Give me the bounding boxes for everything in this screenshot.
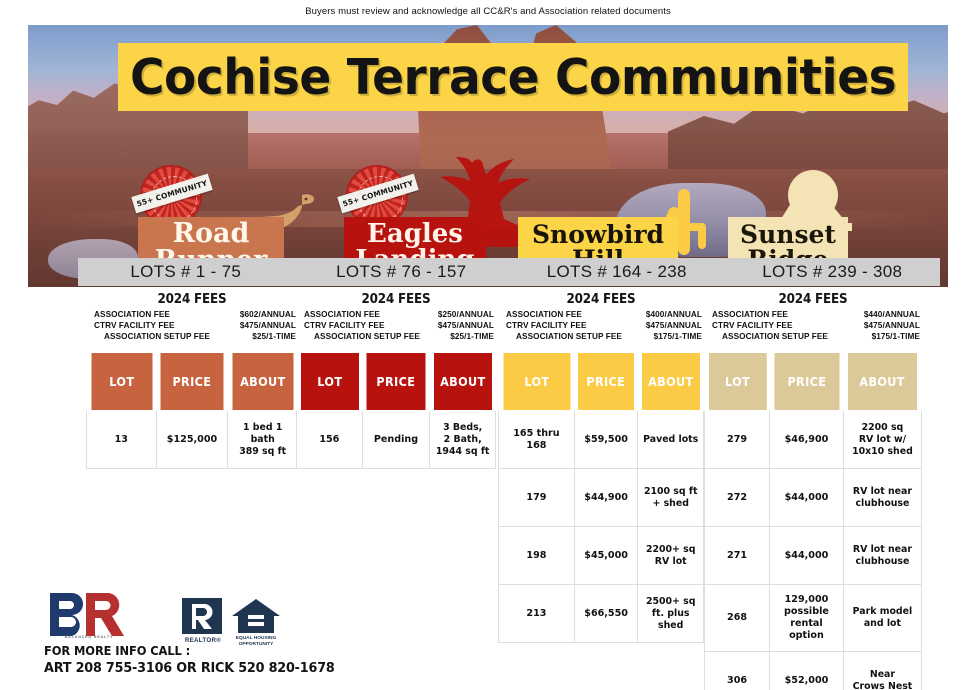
cell-about: 3 Beds,2 Bath,1944 sq ft [430, 411, 496, 469]
cell-price: $125,000 [156, 411, 228, 469]
cell-about: Paved lots [638, 411, 704, 469]
cell-price: $45,000 [574, 527, 638, 585]
fee-value: $25/1-TIME [252, 331, 298, 342]
fee-row: ASSOCIATION SETUP FEE $175/1-TIME [498, 331, 704, 342]
fee-label: ASSOCIATION FEE [86, 309, 170, 320]
equal-housing-label: EQUAL HOUSINGOPPORTUNITY [225, 636, 287, 648]
fee-row: CTRV FACILITY FEE $475/ANNUAL [498, 320, 704, 331]
cell-lot: 213 [499, 585, 575, 643]
cell-about: 2500+ sqft. plusshed [638, 585, 704, 643]
cell-lot: 271 [705, 527, 770, 585]
cell-about: 2200 sqRV lot w/10x10 shed [843, 411, 921, 469]
fee-row: CTRV FACILITY FEE $475/ANNUAL [704, 320, 922, 331]
fee-row: CTRV FACILITY FEE $475/ANNUAL [296, 320, 496, 331]
table-header-row: LOT PRICE ABOUT [87, 353, 298, 411]
fee-row: ASSOCIATION SETUP FEE $25/1-TIME [86, 331, 298, 342]
fee-label: ASSOCIATION FEE [498, 309, 582, 320]
table-row[interactable]: 13 $125,000 1 bed 1bath389 sq ft [87, 411, 298, 469]
realtor-label: REALTOR® [176, 637, 230, 644]
cell-lot: 268 [705, 585, 770, 652]
fee-label: ASSOCIATION FEE [296, 309, 380, 320]
table-row[interactable]: 271 $44,000 RV lot nearclubhouse [705, 527, 922, 585]
fee-row: ASSOCIATION SETUP FEE $25/1-TIME [296, 331, 496, 342]
fee-row: ASSOCIATION SETUP FEE $175/1-TIME [704, 331, 922, 342]
column-road-runner: 2024 FEES ASSOCIATION FEE $602/ANNUAL CT… [86, 292, 298, 469]
lots-range-sunset-ridge: LOTS # 239 - 308 [725, 258, 941, 286]
cell-about: 2200+ sqRV lot [638, 527, 704, 585]
cell-about: 1 bed 1bath389 sq ft [228, 411, 298, 469]
column-header-price: PRICE [578, 353, 635, 411]
cell-price: $44,000 [770, 527, 844, 585]
table-row[interactable]: 179 $44,900 2100 sq ft+ shed [499, 469, 704, 527]
column-header-price: PRICE [160, 353, 225, 411]
page-title: Cochise Terrace Communities [130, 49, 896, 106]
fee-row: CTRV FACILITY FEE $475/ANNUAL [86, 320, 298, 331]
fee-row: ASSOCIATION FEE $440/ANNUAL [704, 309, 922, 320]
fee-value: $175/1-TIME [872, 331, 922, 342]
fee-label: CTRV FACILITY FEE [704, 320, 793, 331]
fees-title: 2024 FEES [304, 292, 488, 307]
column-header-price: PRICE [366, 353, 427, 411]
cell-price: $44,000 [770, 469, 844, 527]
table-row[interactable]: 198 $45,000 2200+ sqRV lot [499, 527, 704, 585]
lots-table-sunset-ridge: LOT PRICE ABOUT 279 $46,900 2200 sqRV lo… [704, 352, 922, 690]
cell-lot: 279 [705, 411, 770, 469]
fees-title: 2024 FEES [94, 292, 289, 307]
table-row[interactable]: 213 $66,550 2500+ sqft. plusshed [499, 585, 704, 643]
fee-value: $475/ANNUAL [864, 320, 922, 331]
column-sunset-ridge: 2024 FEES ASSOCIATION FEE $440/ANNUAL CT… [704, 292, 922, 690]
footer: BALANCED REALTY REALTOR® EQUAL HOUSINGOP… [40, 588, 460, 684]
contact-call-line1: FOR MORE INFO CALL : [44, 644, 190, 658]
page-title-plate: Cochise Terrace Communities [118, 43, 908, 111]
cell-price: $59,500 [574, 411, 638, 469]
lots-table-eagles-landing: LOT PRICE ABOUT 156 Pending 3 Beds,2 Bat… [296, 352, 496, 469]
table-row[interactable]: 165 thru 168 $59,500 Paved lots [499, 411, 704, 469]
fee-value: $440/ANNUAL [864, 309, 922, 320]
cell-price: $66,550 [574, 585, 638, 643]
fee-value: $250/ANNUAL [438, 309, 496, 320]
cell-price: 129,000possiblerentaloption [770, 585, 844, 652]
cell-lot: 156 [297, 411, 363, 469]
fee-value: $25/1-TIME [450, 331, 496, 342]
cell-about: NearCrows Nest [843, 652, 921, 690]
column-header-about: ABOUT [433, 353, 492, 411]
column-header-price: PRICE [773, 353, 839, 411]
table-row[interactable]: 268 129,000possiblerentaloption Park mod… [705, 585, 922, 652]
fee-label: ASSOCIATION SETUP FEE [86, 331, 210, 342]
realtor-icon [180, 596, 224, 636]
cell-price: $44,900 [574, 469, 638, 527]
community-name-line1: Eagles [367, 221, 463, 247]
fee-label: CTRV FACILITY FEE [296, 320, 385, 331]
table-header-row: LOT PRICE ABOUT [499, 353, 704, 411]
fee-value: $602/ANNUAL [240, 309, 298, 320]
lots-table-road-runner: LOT PRICE ABOUT 13 $125,000 1 bed 1bath3… [86, 352, 298, 469]
fee-label: ASSOCIATION SETUP FEE [498, 331, 622, 342]
cell-lot: 306 [705, 652, 770, 690]
fees-title: 2024 FEES [713, 292, 914, 307]
column-header-about: ABOUT [231, 353, 294, 411]
cell-about: RV lot nearclubhouse [843, 527, 921, 585]
cell-price: $52,000 [770, 652, 844, 690]
community-name-line1: Snowbird [532, 222, 664, 247]
disclaimer-text: Buyers must review and acknowledge all C… [0, 6, 976, 17]
flyer-page: Buyers must review and acknowledge all C… [0, 0, 976, 690]
cell-lot: 198 [499, 527, 575, 585]
fee-value: $475/ANNUAL [646, 320, 704, 331]
cell-lot: 272 [705, 469, 770, 527]
fee-value: $475/ANNUAL [438, 320, 496, 331]
cell-about: 2100 sq ft+ shed [638, 469, 704, 527]
cell-about: RV lot nearclubhouse [843, 469, 921, 527]
table-row[interactable]: 279 $46,900 2200 sqRV lot w/10x10 shed [705, 411, 922, 469]
community-name-line1: Road [173, 220, 250, 247]
contact-call-line2: ART 208 755-3106 OR RICK 520 820-1678 [44, 660, 335, 676]
fee-row: ASSOCIATION FEE $602/ANNUAL [86, 309, 298, 320]
column-header-about: ABOUT [641, 353, 700, 411]
community-name-line1: Sunset [740, 222, 836, 247]
table-header-row: LOT PRICE ABOUT [297, 353, 496, 411]
fee-label: CTRV FACILITY FEE [86, 320, 175, 331]
fees-title: 2024 FEES [506, 292, 696, 307]
lots-table-snowbird-hill: LOT PRICE ABOUT 165 thru 168 $59,500 Pav… [498, 352, 704, 643]
cell-lot: 165 thru 168 [499, 411, 575, 469]
column-header-lot: LOT [708, 353, 767, 411]
column-header-about: ABOUT [847, 353, 917, 411]
cell-lot: 179 [499, 469, 575, 527]
lots-range-snowbird-hill: LOTS # 164 - 238 [509, 258, 725, 286]
equal-housing-opportunity-icon [230, 596, 282, 636]
fee-value: $475/ANNUAL [240, 320, 298, 331]
table-header-row: LOT PRICE ABOUT [705, 353, 922, 411]
column-eagles-landing: 2024 FEES ASSOCIATION FEE $250/ANNUAL CT… [296, 292, 496, 469]
fee-value: $400/ANNUAL [646, 309, 704, 320]
column-header-lot: LOT [90, 353, 153, 411]
cell-lot: 13 [87, 411, 157, 469]
balanced-realty-wordmark: BALANCED REALTY [46, 635, 132, 639]
fee-value: $175/1-TIME [654, 331, 704, 342]
fee-label: ASSOCIATION SETUP FEE [704, 331, 828, 342]
fee-label: ASSOCIATION FEE [704, 309, 788, 320]
table-row[interactable]: 156 Pending 3 Beds,2 Bath,1944 sq ft [297, 411, 496, 469]
cell-price: Pending [362, 411, 430, 469]
fee-row: ASSOCIATION FEE $400/ANNUAL [498, 309, 704, 320]
fee-label: CTRV FACILITY FEE [498, 320, 587, 331]
column-header-lot: LOT [502, 353, 570, 411]
fee-label: ASSOCIATION SETUP FEE [296, 331, 420, 342]
fee-row: ASSOCIATION FEE $250/ANNUAL [296, 309, 496, 320]
column-header-lot: LOT [300, 353, 359, 411]
balanced-realty-logo-icon [46, 590, 130, 636]
cell-about: Park modeland lot [843, 585, 921, 652]
column-snowbird-hill: 2024 FEES ASSOCIATION FEE $400/ANNUAL CT… [498, 292, 704, 643]
lots-range-road-runner: LOTS # 1 - 75 [78, 258, 294, 286]
lots-range-eagles-landing: LOTS # 76 - 157 [294, 258, 510, 286]
cell-price: $46,900 [770, 411, 844, 469]
table-row[interactable]: 306 $52,000 NearCrows Nest [705, 652, 922, 690]
hero-banner: Cochise Terrace Communities 55+ COMMUNIT… [28, 25, 948, 287]
lots-range-strip: LOTS # 1 - 75 LOTS # 76 - 157 LOTS # 164… [78, 258, 940, 286]
table-row[interactable]: 272 $44,000 RV lot nearclubhouse [705, 469, 922, 527]
